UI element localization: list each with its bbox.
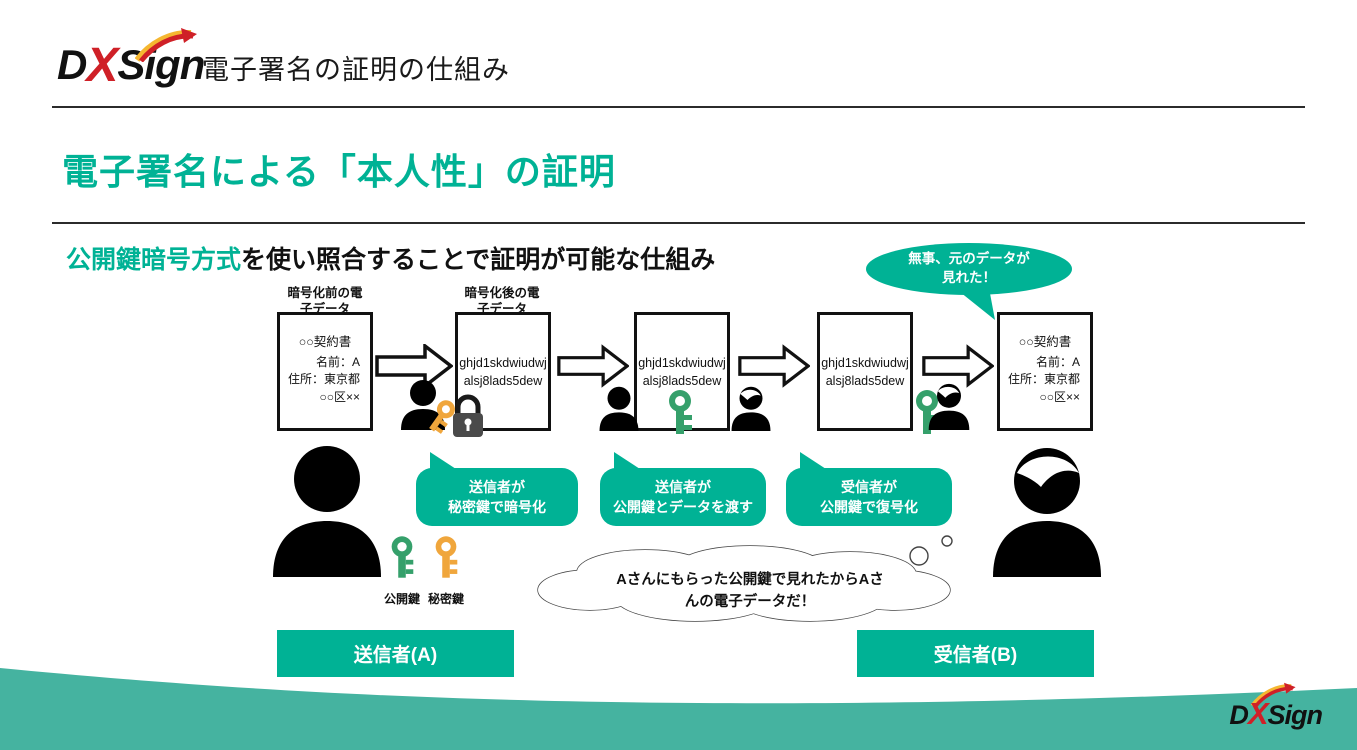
- private-key-legend-label: 秘密鍵: [414, 590, 478, 607]
- doc5-addr-line2: ○○区××: [1008, 389, 1080, 406]
- doc3-cipher-line1: ghjd1skdwiudwj: [637, 353, 727, 371]
- footer-brand-x: X: [1248, 696, 1268, 731]
- slide-header: DXSign 電子署名の証明の仕組み: [0, 0, 1357, 112]
- callout-bubble-1-line2: 秘密鍵で暗号化: [448, 497, 546, 517]
- doc-caption-after-line1: 暗号化後の電: [452, 286, 552, 302]
- doc-caption-before-line1: 暗号化前の電: [275, 286, 375, 302]
- doc1-addr-line: 住所：東京都: [288, 371, 360, 388]
- thought-cloud-line1: Aさんにもらった公開鍵で見れたからAさ: [585, 570, 915, 592]
- header-divider: [52, 106, 1305, 108]
- oval-callout-line1: 無事、元のデータが: [908, 250, 1030, 269]
- doc5-addr-line: 住所：東京都: [1008, 371, 1080, 388]
- slide-canvas: DXSign 電子署名の証明の仕組み 電子署名による「本人性」の証明 公開鍵暗号…: [0, 0, 1357, 750]
- person-sender-small-2-icon: [596, 385, 642, 431]
- footer-brand-sign: Sign: [1268, 700, 1323, 730]
- callout-bubble-3-tail: [800, 452, 826, 469]
- public-key-small-icon-1: [663, 388, 697, 436]
- doc1-addr-line2: ○○区××: [288, 389, 360, 406]
- footer-brand-logo: DXSign: [1229, 696, 1322, 732]
- flow-arrow-2-icon: [557, 344, 629, 388]
- subtitle-accent: 公開鍵暗号方式: [66, 246, 241, 274]
- person-receiver-large-icon: [985, 445, 1109, 577]
- doc2-cipher: ghjd1skdwiudwj alsj8lads5dew: [458, 353, 548, 389]
- doc1-title: ○○契約書: [280, 331, 370, 350]
- oval-callout-line2: 見れた！: [908, 269, 1030, 288]
- doc5-address: 名前：A 住所：東京都 ○○区××: [1008, 354, 1080, 406]
- doc2-cipher-line2: alsj8lads5dew: [458, 372, 548, 390]
- thought-cloud-dots-icon: [895, 528, 965, 568]
- brand-logo-x: X: [86, 39, 117, 92]
- footer-wave: [0, 630, 1357, 750]
- callout-bubble-3: 受信者が 公開鍵で復号化: [786, 468, 952, 526]
- private-key-legend-icon: [430, 533, 462, 581]
- doc1-name-line: 名前：A: [288, 354, 360, 371]
- person-sender-large-icon: [265, 445, 389, 577]
- brand-arrow-icon: [135, 28, 199, 62]
- doc3-cipher: ghjd1skdwiudwj alsj8lads5dew: [637, 353, 727, 389]
- header-title: 電子署名の証明の仕組み: [202, 48, 510, 87]
- thought-cloud-line2: んの電子データだ！: [585, 592, 915, 614]
- doc4-cipher: ghjd1skdwiudwj alsj8lads5dew: [820, 353, 910, 389]
- oval-callout-tail-icon: [955, 288, 997, 322]
- public-key-legend-icon: [386, 533, 418, 581]
- document-box-5: ○○契約書 名前：A 住所：東京都 ○○区××: [997, 312, 1093, 431]
- thought-cloud-text: Aさんにもらった公開鍵で見れたからAさ んの電子データだ！: [585, 570, 915, 614]
- doc4-cipher-line1: ghjd1skdwiudwj: [820, 353, 910, 371]
- footer-brand-d: D: [1229, 700, 1248, 730]
- callout-bubble-1-line1: 送信者が: [448, 477, 546, 497]
- doc5-title: ○○契約書: [1000, 331, 1090, 350]
- person-receiver-small-2-icon: [925, 382, 973, 430]
- doc2-cipher-line1: ghjd1skdwiudwj: [458, 353, 548, 371]
- document-box-4: ghjd1skdwiudwj alsj8lads5dew: [817, 312, 913, 431]
- flow-arrow-3-icon: [738, 344, 810, 388]
- brand-logo-d: D: [57, 41, 86, 88]
- callout-bubble-3-line1: 受信者が: [820, 477, 918, 497]
- subtitle-rest: を使い照合することで証明が可能な仕組み: [241, 246, 715, 274]
- callout-bubble-2-line1: 送信者が: [613, 477, 753, 497]
- doc4-cipher-line2: alsj8lads5dew: [820, 372, 910, 390]
- callout-bubble-2-tail: [614, 452, 640, 469]
- person-receiver-small-1-icon: [728, 385, 774, 431]
- doc3-cipher-line2: alsj8lads5dew: [637, 372, 727, 390]
- doc1-address: 名前：A 住所：東京都 ○○区××: [288, 354, 360, 406]
- section-subtitle: 公開鍵暗号方式を使い照合することで証明が可能な仕組み: [66, 240, 715, 276]
- callout-bubble-2-line2: 公開鍵とデータを渡す: [613, 497, 753, 517]
- doc5-name-line: 名前：A: [1008, 354, 1080, 371]
- document-box-1: ○○契約書 名前：A 住所：東京都 ○○区××: [277, 312, 373, 431]
- callout-bubble-2: 送信者が 公開鍵とデータを渡す: [600, 468, 766, 526]
- callout-bubble-1: 送信者が 秘密鍵で暗号化: [416, 468, 578, 526]
- callout-bubble-3-line2: 公開鍵で復号化: [820, 497, 918, 517]
- padlock-icon: [448, 394, 488, 438]
- section-divider: [52, 222, 1305, 224]
- callout-bubble-1-tail: [430, 452, 456, 469]
- page-title: 電子署名による「本人性」の証明: [62, 143, 616, 195]
